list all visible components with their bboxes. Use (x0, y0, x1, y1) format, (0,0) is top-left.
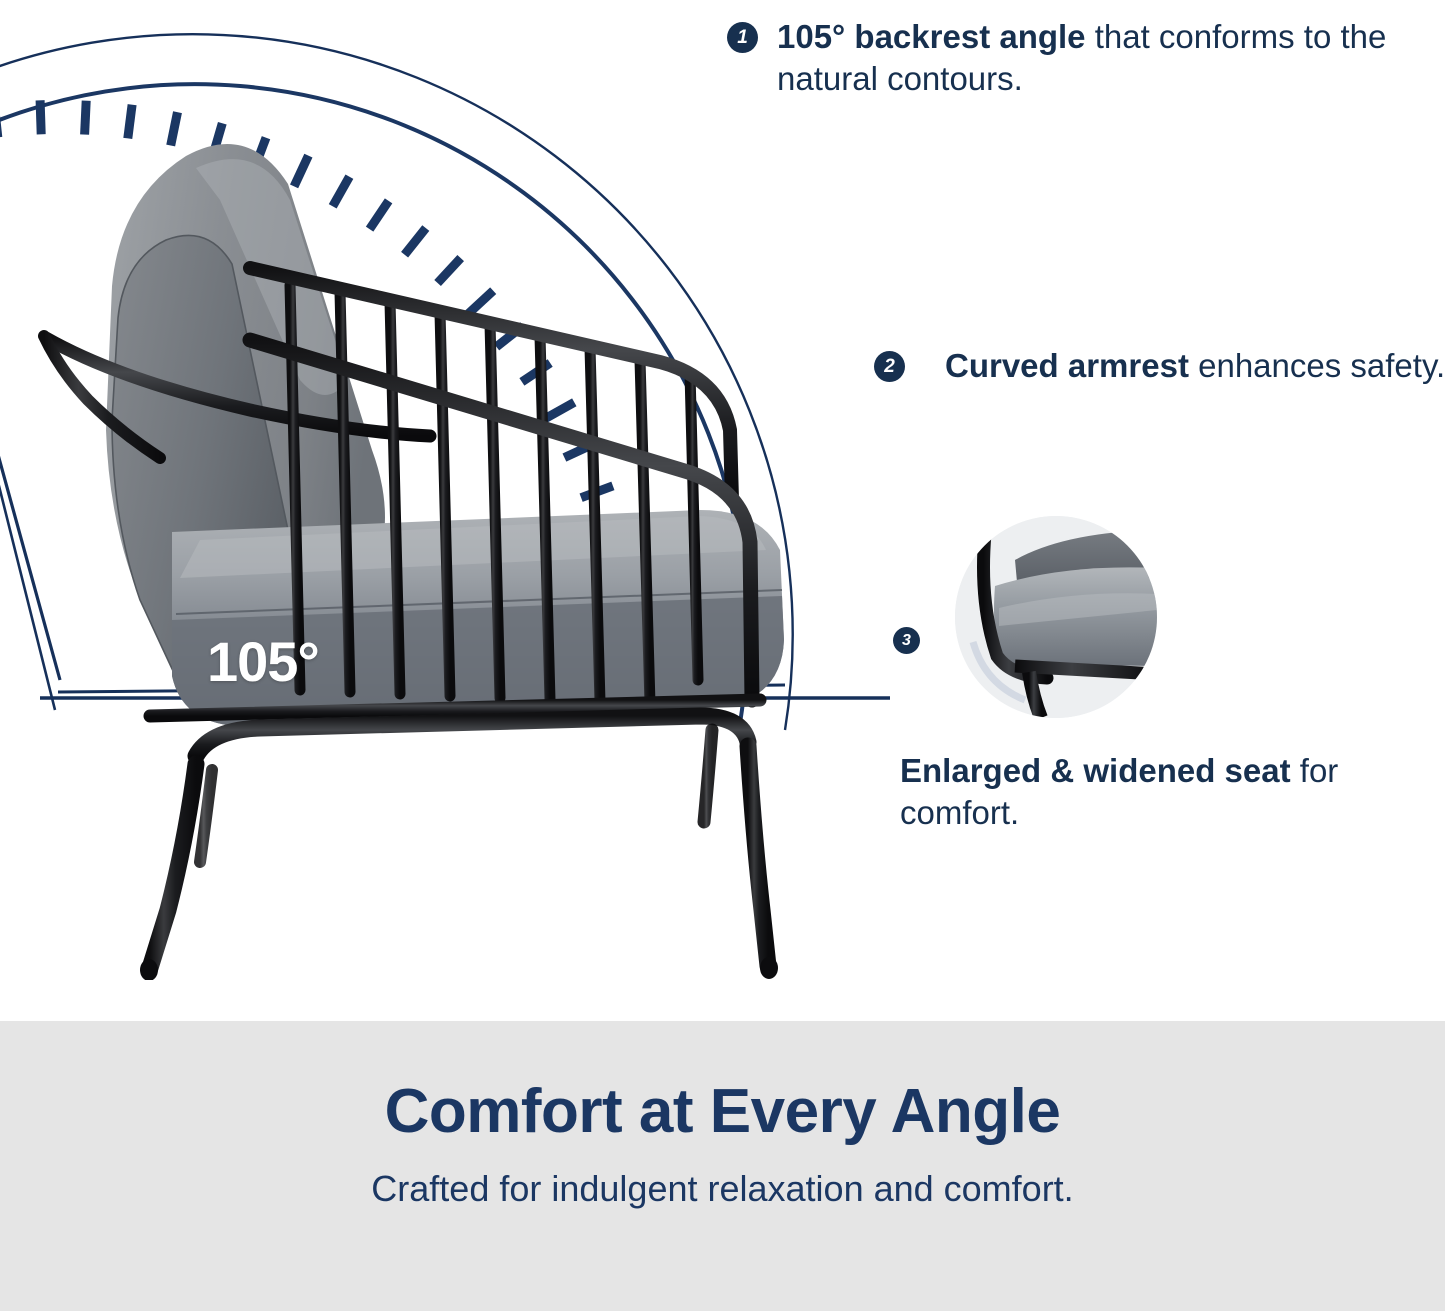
callout-3: 3 (893, 627, 920, 654)
banner-title: Comfort at Every Angle (0, 1021, 1445, 1144)
foot-cap-right (760, 957, 778, 979)
foot-cap-left (140, 959, 158, 980)
callout-2: 2 Curved armrest enhances safety. (874, 345, 1445, 387)
chair-illustration (0, 80, 880, 980)
callout-2-badge: 2 (874, 351, 905, 382)
banner-subtitle: Crafted for indulgent relaxation and com… (0, 1144, 1445, 1210)
callout-2-rest: enhances safety. (1189, 347, 1445, 384)
leg-assembly (150, 716, 768, 968)
angle-value-label: 105° (207, 629, 319, 694)
callout-1-text: 105° backrest angle that conforms to the… (777, 16, 1417, 100)
callout-2-bold: Curved armrest (945, 347, 1189, 384)
callout-1-badge: 1 (727, 22, 758, 53)
callout-3-text-block: Enlarged & widened seat for comfort. (900, 750, 1390, 834)
bottom-banner: Comfort at Every Angle Crafted for indul… (0, 1021, 1445, 1311)
seat-closeup-inset (955, 516, 1157, 718)
infographic-page: {} (0, 0, 1445, 1311)
callout-1: 1 105° backrest angle that conforms to t… (727, 16, 1417, 100)
callout-3-text: Enlarged & widened seat for comfort. (900, 750, 1390, 834)
callout-3-badge: 3 (893, 627, 920, 654)
seat-closeup-image (955, 516, 1157, 718)
callout-3-bold: Enlarged & widened seat (900, 752, 1291, 789)
product-photo-stage: {} (0, 0, 1445, 1021)
callout-2-text: Curved armrest enhances safety. (945, 345, 1445, 387)
callout-1-bold: 105° backrest angle (777, 18, 1086, 55)
